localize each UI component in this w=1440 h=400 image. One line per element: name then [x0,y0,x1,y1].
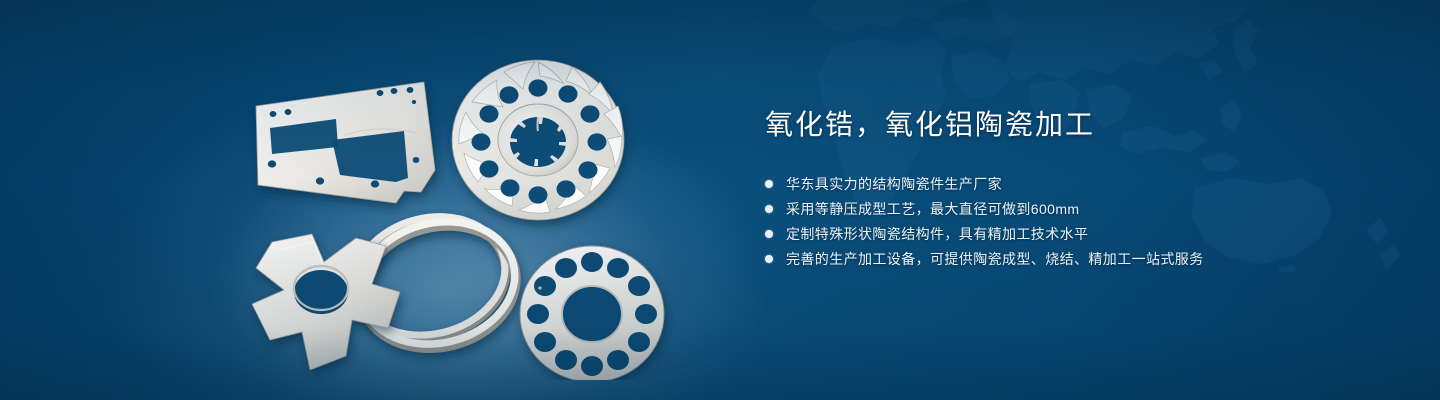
feature-text-1: 华东具实力的结构陶瓷件生产厂家 [786,172,1002,196]
ceramic-perforated-disc-shape [520,246,664,380]
bullet-dot-icon [765,205,773,213]
feature-text-3: 定制特殊形状陶瓷结构件，具有精加工技术水平 [786,222,1088,246]
feature-item-4: 完善的生产加工设备，可提供陶瓷成型、烧结、精加工一站式服务 [765,247,1385,271]
ceramic-impeller-shape [452,60,624,220]
feature-item-3: 定制特殊形状陶瓷结构件，具有精加工技术水平 [765,222,1385,246]
bullet-dot-icon [765,230,773,238]
banner-headline: 氧化锆，氧化铝陶瓷加工 [765,108,1385,142]
banner-copy: 氧化锆，氧化铝陶瓷加工 华东具实力的结构陶瓷件生产厂家 采用等静压成型工艺，最大… [765,108,1385,272]
ceramic-cross-part-shape [252,234,400,370]
product-photo-group [228,40,728,380]
feature-text-2: 采用等静压成型工艺，最大直径可做到600mm [786,197,1079,221]
ceramic-plate-shape [256,82,435,203]
feature-item-1: 华东具实力的结构陶瓷件生产厂家 [765,172,1385,196]
promo-banner: 氧化锆，氧化铝陶瓷加工 华东具实力的结构陶瓷件生产厂家 采用等静压成型工艺，最大… [0,0,1440,400]
feature-list: 华东具实力的结构陶瓷件生产厂家 采用等静压成型工艺，最大直径可做到600mm 定… [765,172,1385,271]
feature-text-4: 完善的生产加工设备，可提供陶瓷成型、烧结、精加工一站式服务 [786,247,1204,271]
feature-item-2: 采用等静压成型工艺，最大直径可做到600mm [765,197,1385,221]
bullet-dot-icon [765,180,773,188]
bullet-dot-icon [765,255,773,263]
